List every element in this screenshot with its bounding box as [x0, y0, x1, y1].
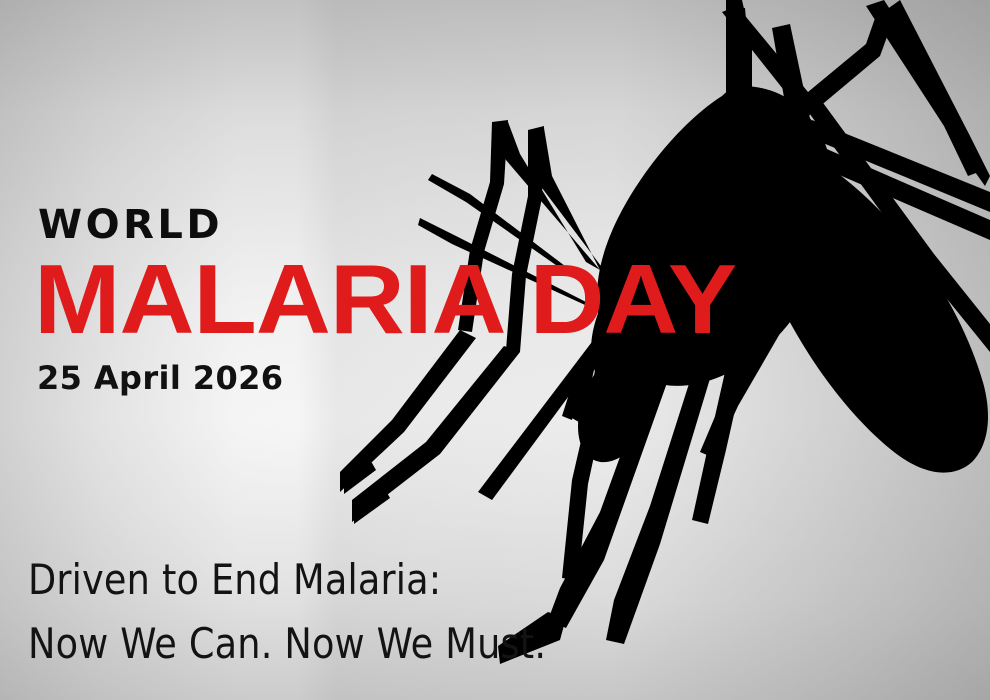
poster-text-layer: WORLD MALARIA DAY 25 April 2026 Driven t…	[0, 0, 990, 700]
tagline: Driven to End Malaria: Now We Can. Now W…	[28, 548, 546, 676]
page-title: MALARIA DAY	[34, 252, 736, 346]
tagline-line-2: Now We Can. Now We Must.	[28, 612, 546, 676]
tagline-line-1: Driven to End Malaria:	[28, 548, 546, 612]
kicker-world: WORLD	[38, 205, 223, 245]
world-malaria-day-poster: WORLD MALARIA DAY 25 April 2026 Driven t…	[0, 0, 990, 700]
event-date: 25 April 2026	[37, 362, 283, 394]
